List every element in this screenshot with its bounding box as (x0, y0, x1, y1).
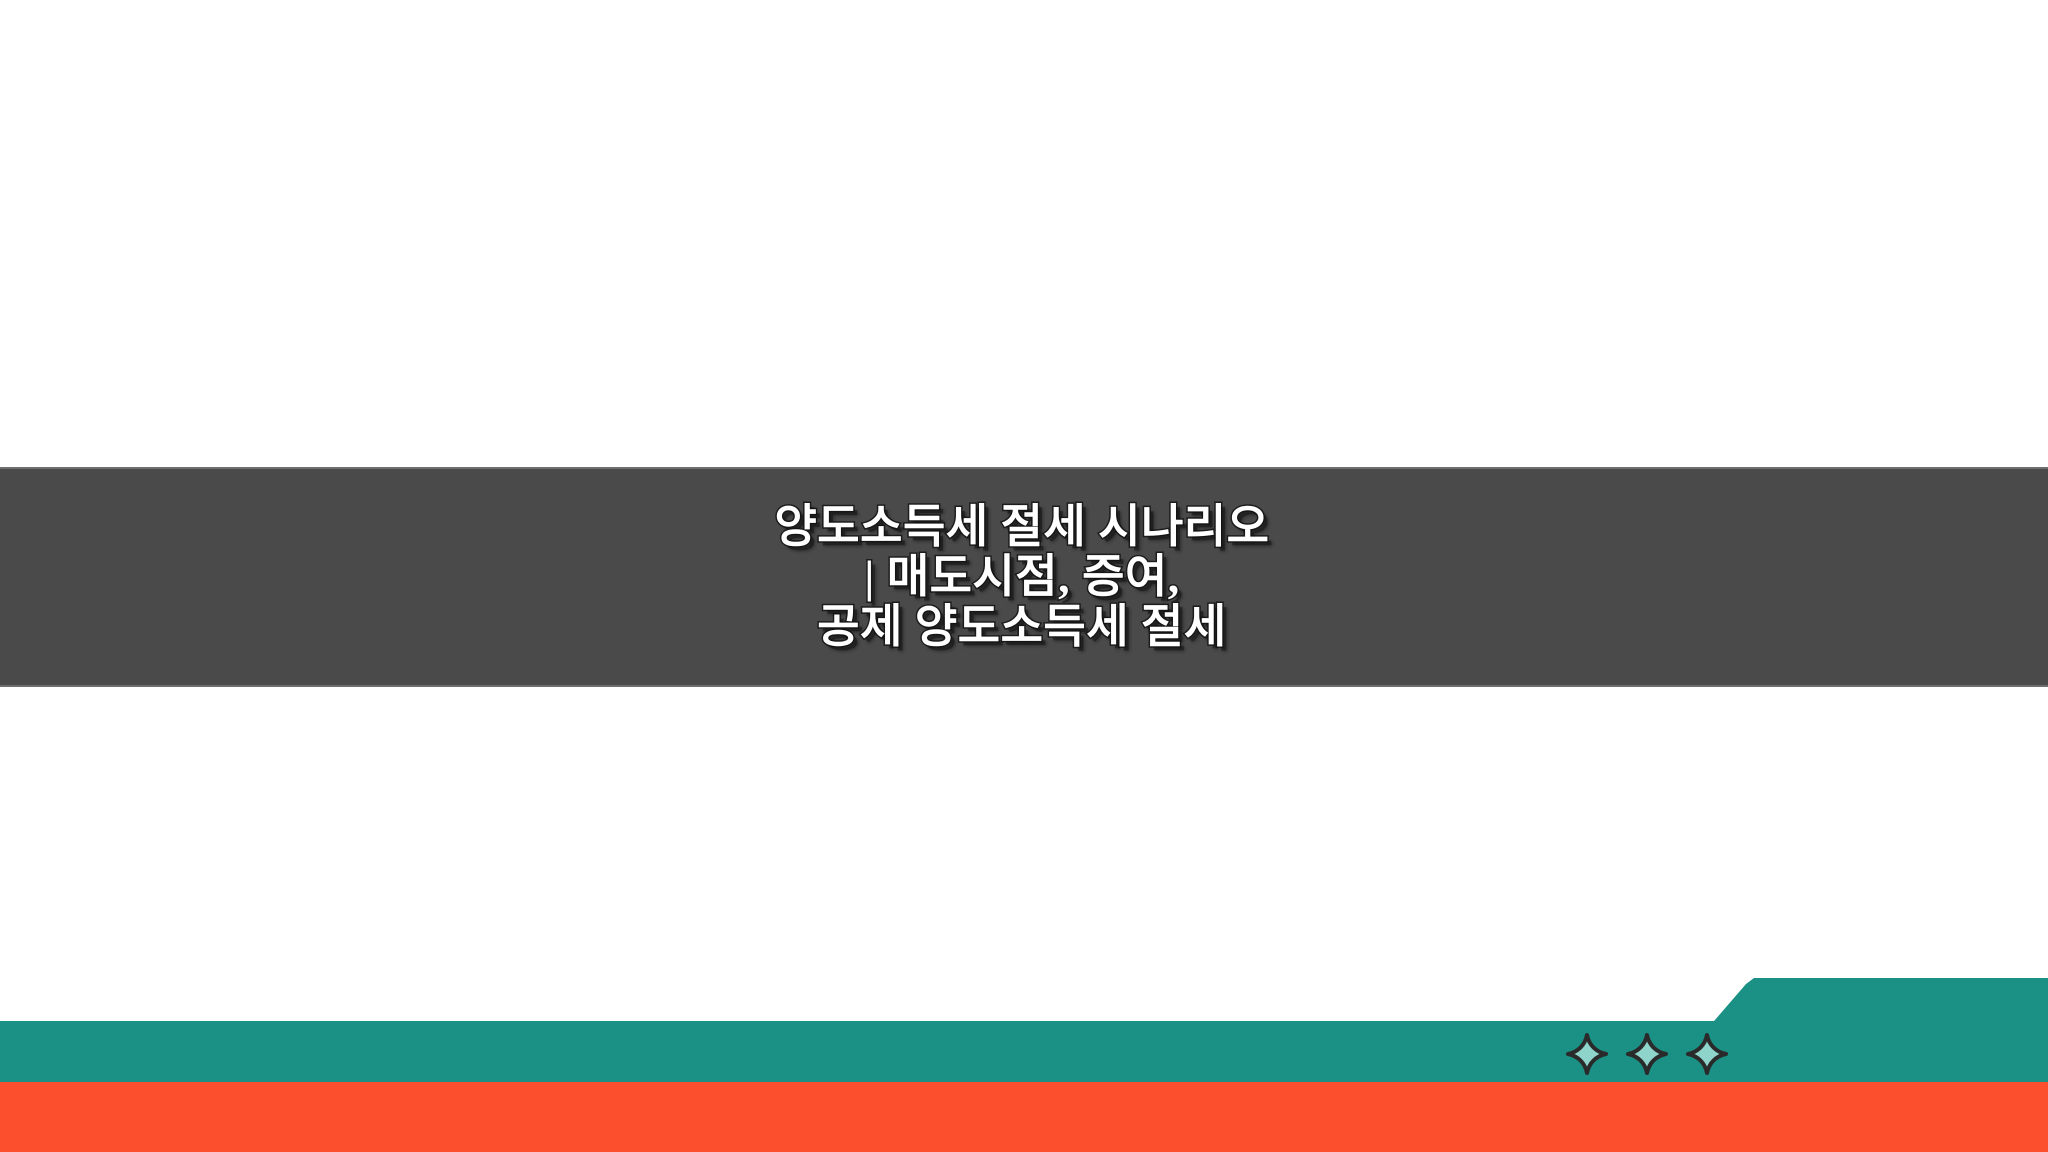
middle-whitespace (0, 687, 2048, 978)
footer-teal-bar (0, 1021, 2048, 1082)
title-line-3: 공제 양도소득세 절세 (774, 602, 1269, 652)
top-whitespace (0, 0, 2048, 467)
title-line-2: | 매도시점, 증여, (774, 552, 1269, 602)
title-line-1: 양도소득세 절세 시나리오 (774, 502, 1269, 552)
page-canvas: 양도소득세 절세 시나리오 | 매도시점, 증여, 공제 양도소득세 절세 (0, 0, 2048, 1152)
title-banner: 양도소득세 절세 시나리오 | 매도시점, 증여, 공제 양도소득세 절세 (0, 467, 2048, 687)
sparkle-diamond-1-icon (1562, 1029, 1612, 1079)
title-text-stack: 양도소득세 절세 시나리오 | 매도시점, 증여, 공제 양도소득세 절세 (774, 502, 1269, 652)
footer-decoration (0, 960, 2048, 1152)
sparkle-cluster (1562, 1028, 1732, 1080)
sparkle-diamond-2-icon (1622, 1029, 1672, 1079)
footer-orange-bar (0, 1082, 2048, 1152)
sparkle-diamond-3-icon (1682, 1029, 1732, 1079)
